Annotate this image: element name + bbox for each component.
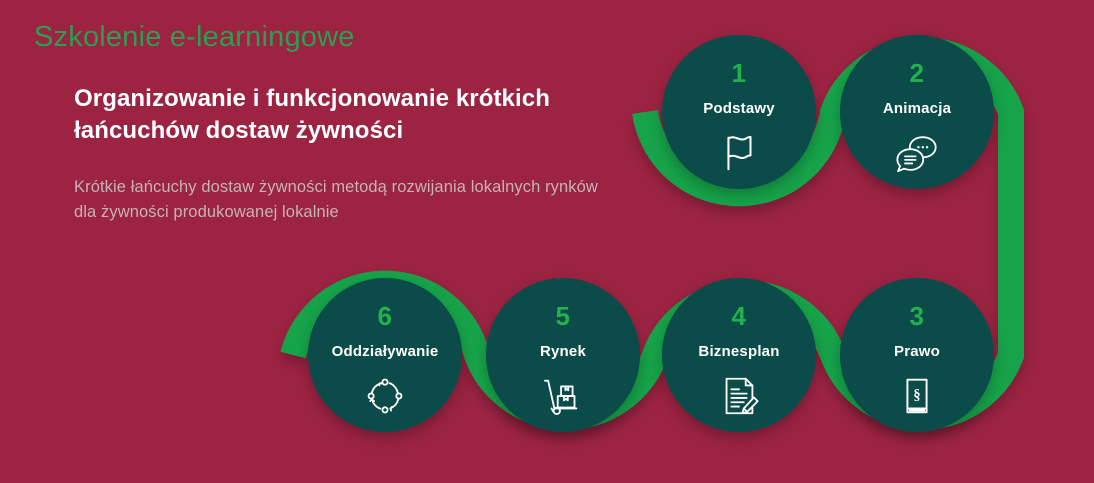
- flow-node-2-label: Animacja: [883, 101, 951, 116]
- flow-node-4-number: 4: [732, 303, 747, 329]
- flow-node-3[interactable]: 3 Prawo §: [840, 278, 994, 432]
- flow-node-2[interactable]: 2 Animacja: [840, 35, 994, 189]
- flow-node-3-number: 3: [910, 303, 925, 329]
- flow-node-4-label: Biznesplan: [698, 344, 779, 359]
- document-pencil-icon: [716, 373, 762, 419]
- flow-node-3-label: Prawo: [894, 344, 940, 359]
- flow-node-5-number: 5: [556, 303, 571, 329]
- flow-node-2-number: 2: [910, 60, 925, 86]
- flow-node-1-label: Podstawy: [703, 101, 775, 116]
- network-cycle-icon: [362, 373, 408, 419]
- flow-node-6-label: Oddziaływanie: [332, 344, 439, 359]
- law-book-icon: §: [894, 373, 940, 419]
- flag-icon: [716, 130, 762, 176]
- svg-text:§: §: [913, 387, 920, 403]
- flow-node-1-number: 1: [732, 60, 747, 86]
- speech-bubbles-icon: [894, 130, 940, 176]
- flow-node-5-label: Rynek: [540, 344, 586, 359]
- flow-node-5[interactable]: 5 Rynek: [486, 278, 640, 432]
- flow-node-6[interactable]: 6 Oddziaływanie: [308, 278, 462, 432]
- flow-node-1[interactable]: 1 Podstawy: [662, 35, 816, 189]
- hand-truck-boxes-icon: [540, 373, 586, 419]
- flow-node-4[interactable]: 4 Biznesplan: [662, 278, 816, 432]
- slide-canvas: Szkolenie e-learningowe Organizowanie i …: [0, 0, 1094, 483]
- flow-node-6-number: 6: [378, 303, 393, 329]
